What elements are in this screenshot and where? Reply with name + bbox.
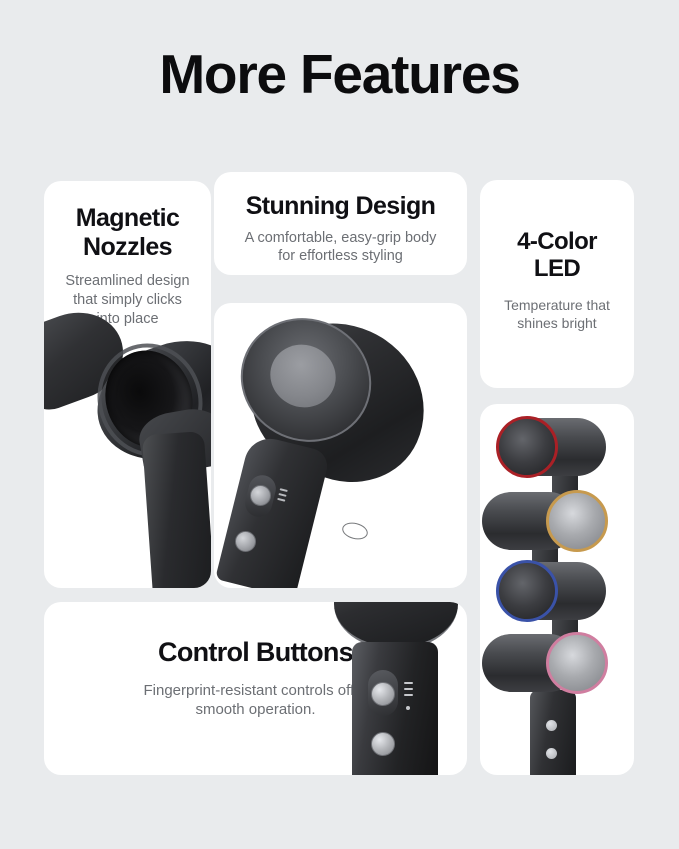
indicator-dot-icon xyxy=(406,706,410,710)
feature-card-four-color-led[interactable]: 4-Color LED Temperature that shines brig… xyxy=(480,180,634,388)
handle-button-icon xyxy=(546,748,557,759)
card-subtitle-line2: shines bright xyxy=(480,314,634,332)
led-ring-pink-icon xyxy=(546,632,608,694)
brand-emblem-icon xyxy=(340,520,369,542)
handle-button-icon xyxy=(546,720,557,731)
dryer-handle-shape xyxy=(142,431,211,588)
page-title: More Features xyxy=(0,42,679,106)
power-button-icon xyxy=(371,682,395,706)
card-subtitle-line2: for effortless styling xyxy=(214,247,467,266)
card-title-line2: Nozzles xyxy=(44,233,211,262)
card-title-stunning-design: Stunning Design xyxy=(214,172,467,221)
dryer-handle-shape xyxy=(530,690,576,775)
card-title-magnetic-nozzles: Magnetic Nozzles xyxy=(44,181,211,261)
card-subtitle-line1: A comfortable, easy-grip body xyxy=(214,229,467,248)
product-image-card-led-colors[interactable] xyxy=(480,404,634,775)
mode-button-icon xyxy=(235,531,256,552)
product-image-led-color-stack xyxy=(480,404,634,775)
card-title-line1: Magnetic xyxy=(44,204,211,233)
card-title-four-color-led: 4-Color LED xyxy=(480,180,634,283)
led-ring-red-icon xyxy=(496,416,558,478)
led-ring-gold-icon xyxy=(546,490,608,552)
feature-card-control-buttons[interactable]: Control Buttons Fingerprint-resistant co… xyxy=(44,602,467,775)
card-subtitle-stunning-design: A comfortable, easy-grip body for effort… xyxy=(214,221,467,267)
dryer-handle-shape xyxy=(215,433,331,588)
card-title-line2: LED xyxy=(480,255,634,282)
product-image-dryer-barrel xyxy=(214,303,467,588)
led-ring-blue-icon xyxy=(496,560,558,622)
speed-indicator-icon xyxy=(404,682,413,700)
product-image-control-buttons xyxy=(312,602,467,775)
mode-button-icon xyxy=(371,732,395,756)
feature-card-magnetic-nozzles[interactable]: Magnetic Nozzles Streamlined design that… xyxy=(44,181,211,588)
card-subtitle-line1: Temperature that xyxy=(480,296,634,314)
product-image-card-stunning-design[interactable] xyxy=(214,303,467,588)
power-button-icon xyxy=(250,485,271,506)
feature-card-stunning-design[interactable]: Stunning Design A comfortable, easy-grip… xyxy=(214,172,467,275)
card-title-line1: 4-Color xyxy=(480,228,634,255)
product-image-magnetic-nozzle xyxy=(44,293,211,588)
card-subtitle-line1: Streamlined design xyxy=(44,272,211,291)
card-subtitle-four-color-led: Temperature that shines bright xyxy=(480,283,634,332)
